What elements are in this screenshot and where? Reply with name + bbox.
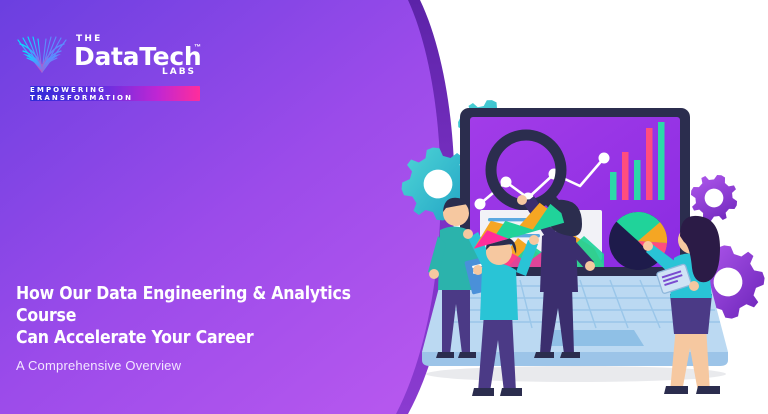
logo-labs-text: LABS [162, 67, 196, 77]
headline-line-2: Can Accelerate Your Career [16, 328, 253, 348]
hero-banner: THE DataTech ™ LABS EMPOWERING TRANSFORM… [0, 0, 768, 414]
headline-line-1: How Our Data Engineering & Analytics Cou… [16, 284, 351, 326]
butterfly-icon [14, 32, 70, 76]
logo-tagline-bar: EMPOWERING TRANSFORMATION [30, 86, 200, 101]
illustration-svg [398, 86, 768, 414]
logo-trademark: ™ [194, 44, 201, 51]
data-analytics-illustration [398, 86, 768, 414]
page-title: How Our Data Engineering & Analytics Cou… [16, 283, 356, 349]
headline-block: How Our Data Engineering & Analytics Cou… [16, 283, 356, 373]
logo-tagline-text: EMPOWERING TRANSFORMATION [30, 86, 200, 102]
brand-logo[interactable]: THE DataTech ™ LABS EMPOWERING TRANSFORM… [14, 18, 214, 90]
headline-subtitle: A Comprehensive Overview [16, 358, 356, 373]
laptop-trackpad [540, 330, 644, 346]
skirt [670, 294, 712, 334]
